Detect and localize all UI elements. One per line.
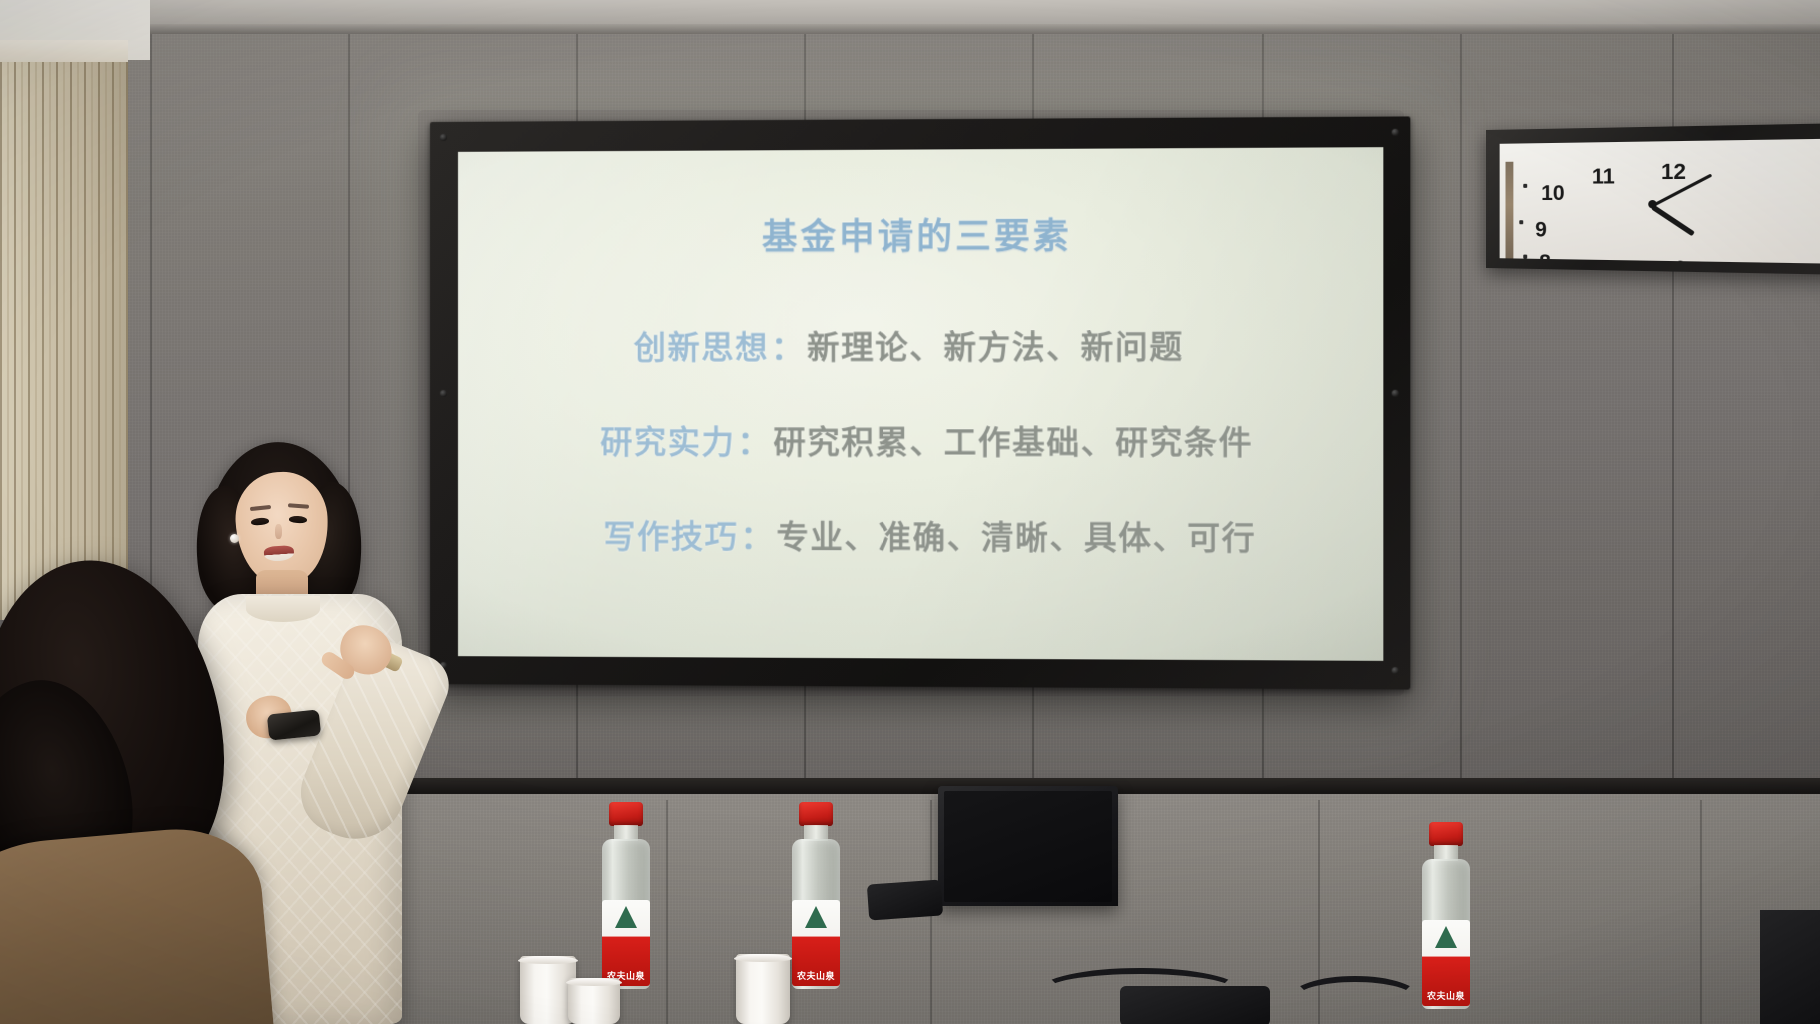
slide-body: 创新思想 ： 新理论、新方法、新问题 研究实力 ： 研究积累、工作基础、研究条件… bbox=[458, 321, 1383, 560]
cable bbox=[1040, 968, 1240, 1014]
clock-number: 12 bbox=[1661, 160, 1686, 185]
water-bottle[interactable]: 农夫山泉 bbox=[1418, 822, 1474, 1024]
desk-device[interactable] bbox=[867, 879, 943, 920]
mountain-icon bbox=[805, 906, 827, 928]
bottle-label-text: 农夫山泉 bbox=[792, 969, 840, 982]
frame-stud-icon bbox=[1392, 129, 1399, 136]
slide-line: 研究实力 ： 研究积累、工作基础、研究条件 bbox=[600, 417, 1253, 464]
frame-stud-icon bbox=[1392, 667, 1399, 674]
clock-number: 10 bbox=[1541, 182, 1565, 207]
clock-number: 9 bbox=[1535, 218, 1547, 242]
water-bottle[interactable]: 农夫山泉 bbox=[788, 802, 844, 1014]
paper-cup[interactable] bbox=[568, 978, 620, 1024]
clock-number: 11 bbox=[1592, 165, 1615, 190]
frame-stud-icon bbox=[1392, 390, 1399, 397]
slide-line: 写作技巧 ： 专业、准确、清晰、具体、可行 bbox=[603, 511, 1256, 559]
laptop[interactable] bbox=[938, 786, 1118, 906]
clock-tick bbox=[1519, 220, 1523, 224]
monitor[interactable] bbox=[1760, 910, 1820, 1024]
bottle-cap bbox=[799, 802, 833, 826]
slide-title: 基金申请的三要素 bbox=[762, 207, 1072, 260]
screen-surface: 基金申请的三要素 创新思想 ： 新理论、新方法、新问题 研究实力 ： 研究积累、… bbox=[458, 147, 1383, 661]
slide-line-content: 新理论、新方法、新问题 bbox=[807, 322, 1184, 369]
slide: 基金申请的三要素 创新思想 ： 新理论、新方法、新问题 研究实力 ： 研究积累、… bbox=[458, 147, 1383, 661]
panel-seam bbox=[1460, 34, 1462, 794]
laptop-screen bbox=[944, 791, 1112, 902]
audience-member bbox=[0, 560, 270, 1024]
clock-hour-hand bbox=[1651, 205, 1695, 237]
paper-cup[interactable] bbox=[736, 954, 790, 1024]
slide-line-content: 专业、准确、清晰、具体、可行 bbox=[776, 512, 1256, 560]
slide-line-colon: ： bbox=[769, 322, 807, 368]
clock-tick bbox=[1523, 255, 1527, 259]
slide-line-content: 研究积累、工作基础、研究条件 bbox=[773, 417, 1253, 464]
slide-line-label: 创新思想 bbox=[634, 322, 769, 368]
bottle-cap bbox=[609, 802, 643, 826]
table-objects: 农夫山泉 农夫山泉 农夫山泉 bbox=[0, 790, 1820, 1024]
presentation-clicker[interactable] bbox=[267, 709, 321, 740]
slide-line-label: 写作技巧 bbox=[603, 511, 738, 558]
slide-line: 创新思想 ： 新理论、新方法、新问题 bbox=[634, 322, 1184, 369]
photo-scene: 基金申请的三要素 创新思想 ： 新理论、新方法、新问题 研究实力 ： 研究积累、… bbox=[0, 0, 1820, 1024]
wall-clock: 11 12 10 9 8 7 6 bbox=[1486, 123, 1820, 275]
clock-tick bbox=[1523, 184, 1527, 188]
clock-face: 11 12 10 9 8 7 6 bbox=[1500, 139, 1820, 264]
presenter-nose bbox=[275, 524, 282, 539]
slide-line-label: 研究实力 bbox=[600, 417, 735, 463]
audience-shoulder-coat bbox=[0, 822, 275, 1024]
presenter-earring bbox=[230, 534, 239, 543]
mountain-icon bbox=[615, 906, 637, 928]
clock-pendulum bbox=[1506, 162, 1514, 264]
wood-panel-trim bbox=[0, 40, 128, 62]
bottle-label: 农夫山泉 bbox=[1422, 920, 1470, 1006]
frame-stud-icon bbox=[440, 390, 447, 397]
frame-stud-icon bbox=[440, 134, 447, 141]
bottle-label: 农夫山泉 bbox=[602, 900, 650, 986]
slide-line-colon: ： bbox=[738, 512, 776, 558]
bottle-label: 农夫山泉 bbox=[792, 900, 840, 986]
bottle-cap bbox=[1429, 822, 1463, 846]
mountain-icon bbox=[1435, 926, 1457, 948]
clock-center-pin bbox=[1648, 200, 1656, 208]
wood-slat-panel bbox=[0, 60, 128, 620]
slide-line-colon: ： bbox=[735, 417, 773, 463]
presenter-eye bbox=[289, 516, 307, 524]
cable bbox=[1290, 976, 1420, 1016]
projection-screen[interactable]: 基金申请的三要素 创新思想 ： 新理论、新方法、新问题 研究实力 ： 研究积累、… bbox=[430, 116, 1410, 689]
bottle-label-text: 农夫山泉 bbox=[1422, 989, 1470, 1002]
